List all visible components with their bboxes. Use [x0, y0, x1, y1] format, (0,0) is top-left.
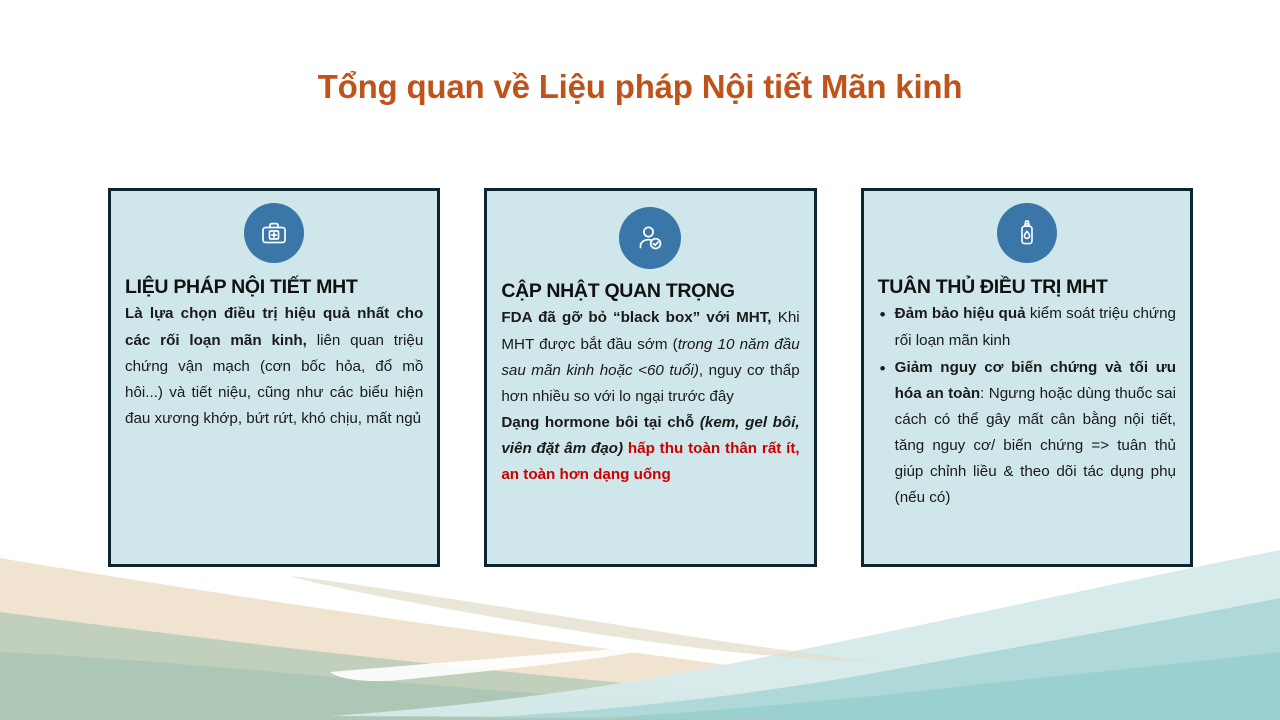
topical-bold-text: Dạng hormone bôi tại chỗ: [501, 414, 699, 431]
bullet-rest-text: : Ngưng hoặc dùng thuốc sai cách có thể …: [895, 385, 1176, 507]
dropper-bottle-icon: [997, 203, 1057, 263]
card-icon-container: [125, 203, 423, 263]
card-body: Là lựa chọn điều trị hiệu quả nhất cho c…: [125, 301, 423, 432]
page-title: Tổng quan về Liệu pháp Nội tiết Mãn kinh: [0, 68, 1280, 106]
card-mht-therapy[interactable]: LIỆU PHÁP NỘI TIẾT MHT Là lựa chọn điều …: [108, 188, 440, 567]
card-heading: TUÂN THỦ ĐIỀU TRỊ MHT: [878, 275, 1176, 299]
list-item: Giảm nguy cơ biến chứng và tối ưu hóa an…: [878, 355, 1176, 512]
card-body: FDA đã gỡ bỏ “black box” với MHT, Khi MH…: [501, 305, 799, 488]
adherence-bullet-list: Đảm bảo hiệu quả kiểm soát triệu chứng r…: [878, 301, 1176, 511]
wave-teal: [470, 598, 1280, 720]
card-heading: CẬP NHẬT QUAN TRỌNG: [501, 279, 799, 303]
card-icon-container: [878, 203, 1176, 263]
card-icon-container: [501, 207, 799, 269]
wave-sage-deep: [0, 652, 1280, 720]
wave-beige: [0, 558, 1280, 720]
list-item: Đảm bảo hiệu quả kiểm soát triệu chứng r…: [878, 301, 1176, 353]
card-row: LIỆU PHÁP NỘI TIẾT MHT Là lựa chọn điều …: [108, 188, 1193, 567]
person-verified-icon: [619, 207, 681, 269]
wave-highlight-streak: [330, 646, 660, 681]
card-paragraph-topical: Dạng hormone bôi tại chỗ (kem, gel bôi, …: [501, 410, 799, 488]
first-aid-kit-icon: [244, 203, 304, 263]
card-heading: LIỆU PHÁP NỘI TIẾT MHT: [125, 275, 423, 299]
background-wave-decoration: [0, 540, 1280, 720]
card-paragraph-fda: FDA đã gỡ bỏ “black box” với MHT, Khi MH…: [501, 305, 799, 410]
wave-teal-light: [330, 550, 1280, 720]
fda-bold-text: FDA đã gỡ bỏ “black box” với MHT,: [501, 309, 771, 326]
wave-teal-deep: [600, 652, 1280, 720]
card-treatment-adherence[interactable]: TUÂN THỦ ĐIỀU TRỊ MHT Đảm bảo hiệu quả k…: [861, 188, 1193, 567]
card-body: Đảm bảo hiệu quả kiểm soát triệu chứng r…: [878, 301, 1176, 512]
card-important-update[interactable]: CẬP NHẬT QUAN TRỌNG FDA đã gỡ bỏ “black …: [484, 188, 816, 567]
wave-sage: [0, 612, 1280, 720]
wave-beige-streak: [290, 576, 880, 662]
card-paragraph: Là lựa chọn điều trị hiệu quả nhất cho c…: [125, 301, 423, 432]
bullet-bold-text: Đảm bảo hiệu quả: [895, 305, 1026, 322]
